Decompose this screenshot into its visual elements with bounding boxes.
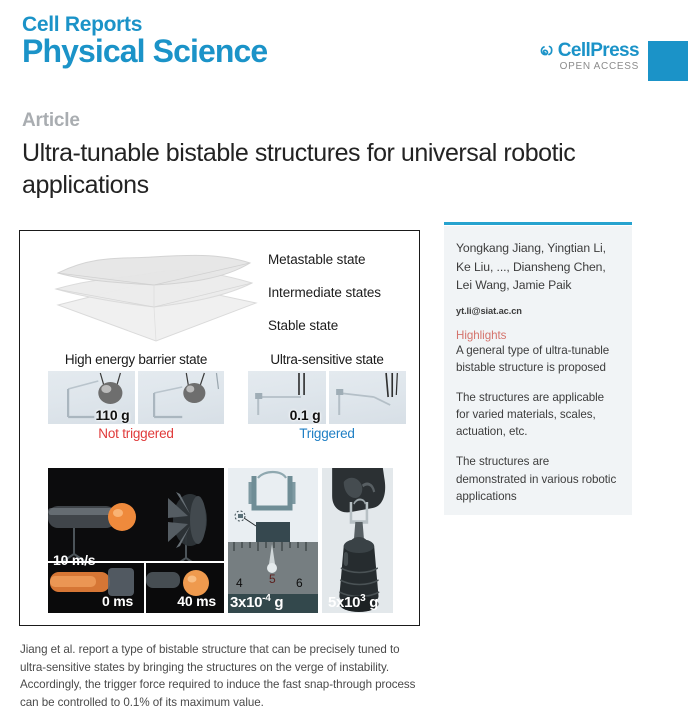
highlight-item: A general type of ultra-tunable bistable… [456, 342, 620, 376]
demo-microscale-panel: 4 5 6 3x10-4 g [228, 468, 318, 613]
needle-lever-graphic-b [329, 371, 407, 424]
figure-caption: Jiang et al. report a type of bistable s… [20, 641, 424, 711]
cellpress-wordmark: CellPress [558, 41, 639, 60]
demo-photos-row: 10 m/s 0 ms 40 ms [20, 468, 419, 613]
sidebar-accent-rule [444, 222, 632, 225]
micro-ruler-scene: 4 5 6 3x10-4 g [228, 542, 318, 613]
gripper-weight-graphic [322, 468, 393, 613]
highlights-heading: Highlights [456, 329, 620, 342]
photo-pair-high-energy: 110 g [48, 371, 224, 424]
label-intermediate-states: Intermediate states [268, 285, 381, 300]
label-metastable-state: Metastable state [268, 252, 365, 267]
photo-high-energy-after [138, 371, 225, 424]
state-heading-ultra-sensitive: Ultra-sensitive state [248, 353, 406, 368]
macro-force-unit: g [365, 594, 378, 611]
photo-ultra-sensitive-after [329, 371, 407, 424]
ruler-tick-4: 4 [236, 576, 243, 590]
label-time-forty: 40 ms [177, 593, 216, 609]
brand-color-square [648, 41, 688, 81]
micro-top-scene [228, 468, 318, 542]
author-list: Yongkang Jiang, Yingtian Li, Ke Liu, ...… [456, 226, 620, 295]
journal-name-line2: Physical Science [22, 35, 422, 67]
demo-macroscale-panel: 5x103 g [322, 468, 393, 613]
ruler-tick-6: 6 [296, 576, 303, 590]
highlight-item: The structures are applicable for varied… [456, 389, 620, 440]
open-access-label: OPEN ACCESS [539, 62, 639, 72]
ruler-tick-5: 5 [269, 572, 276, 586]
value-ultra-sensitive: 0.1 g [290, 407, 321, 423]
label-stable-state: Stable state [268, 318, 338, 333]
trigger-status-ultra-sensitive: Triggered [248, 426, 406, 441]
article-type-kicker: Article [22, 110, 80, 132]
demo-impact-panel: 10 m/s 0 ms 40 ms [48, 468, 224, 613]
cellpress-text-wrap: CellPress OPEN ACCESS [539, 41, 648, 72]
cellpress-row: CellPress [539, 41, 639, 60]
label-impact-speed: 10 m/s [53, 552, 95, 568]
photo-pair-ultra-sensitive: 0.1 g [248, 371, 406, 424]
photo-ultra-sensitive-before: 0.1 g [248, 371, 326, 424]
value-high-energy: 110 g [95, 407, 129, 423]
state-group-ultra-sensitive: Ultra-sensitive state 0.1 g [248, 353, 406, 441]
highlight-item: The structures are demonstrated in vario… [456, 453, 620, 504]
micro-force-unit: g [270, 594, 283, 611]
value-micro-force: 3x10-4 g [230, 593, 283, 611]
sidebar: Yongkang Jiang, Yingtian Li, Ke Liu, ...… [444, 226, 632, 515]
micro-clip-graphic [228, 468, 318, 542]
value-macro-force: 5x103 g [328, 593, 378, 611]
energy-surfaces-panel: Metastable state Intermediate states Sta… [20, 231, 419, 353]
impact-scene-graphic [48, 468, 224, 613]
micro-force-base: 3x10 [230, 594, 262, 611]
photo-high-energy-before: 110 g [48, 371, 135, 424]
trigger-status-high-energy: Not triggered [48, 426, 224, 441]
state-group-high-energy: High energy barrier state 110 g [48, 353, 224, 441]
graphical-abstract-figure: Metastable state Intermediate states Sta… [19, 230, 420, 626]
page-title: Ultra-tunable bistable structures for un… [22, 137, 642, 201]
cellpress-swirl-icon [539, 43, 555, 59]
journal-masthead: Cell Reports Physical Science [22, 14, 422, 67]
state-heading-high-energy: High energy barrier state [48, 353, 224, 368]
lever-ball-graphic-b [138, 371, 225, 424]
label-time-zero: 0 ms [102, 593, 133, 609]
cellpress-logo-block: CellPress OPEN ACCESS [539, 41, 688, 81]
corresponding-email[interactable]: yt.li@siat.ac.cn [456, 306, 620, 316]
state-comparison-row: High energy barrier state 110 g [20, 353, 419, 459]
stacked-surfaces-graphic [28, 233, 278, 351]
inset-divider-vertical [144, 563, 146, 613]
macro-force-base: 5x10 [328, 594, 360, 611]
